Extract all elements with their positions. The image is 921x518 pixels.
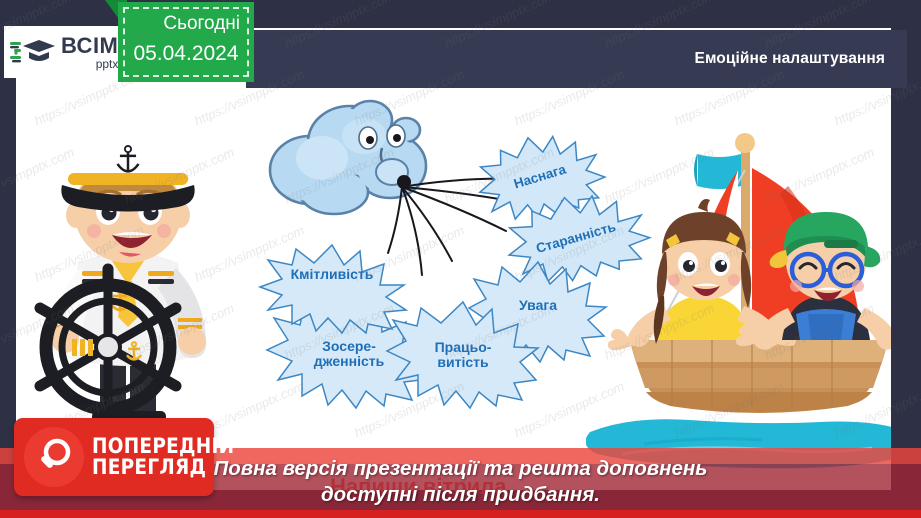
banner-bottom-stripe bbox=[0, 510, 921, 518]
date-badge-label: Сьогодні bbox=[118, 13, 254, 35]
star-label: Зосере- дженність bbox=[314, 339, 384, 370]
magnifier-icon bbox=[24, 427, 84, 487]
brand-logo[interactable]: ВСІМ pptx bbox=[4, 26, 122, 78]
star-label: Кмітливість bbox=[291, 267, 374, 282]
logo-subtitle: pptx bbox=[61, 58, 118, 70]
date-badge: Сьогодні 05.04.2024 bbox=[118, 2, 254, 82]
preview-button[interactable]: ПОПЕРЕДНІЙ ПЕРЕГЛЯД bbox=[14, 418, 214, 496]
star-label: Працьо- витість bbox=[435, 340, 492, 371]
slide-title-bar: Емоційне налаштування bbox=[246, 30, 907, 88]
sailboat-with-two-children-illustration bbox=[602, 128, 891, 428]
star-callout-pratsovytist: Працьо- витість bbox=[384, 300, 542, 410]
preview-button-line2: ПЕРЕГЛЯД bbox=[92, 457, 234, 478]
preview-button-line1: ПОПЕРЕДНІЙ bbox=[92, 436, 234, 457]
page-title: Емоційне налаштування bbox=[695, 50, 886, 68]
sailor-boy-with-ships-wheel-illustration bbox=[20, 103, 235, 423]
graduation-cap-icon bbox=[10, 37, 56, 67]
presentation-slide: Наснага Старанність Кмітливість Увага Зо bbox=[0, 0, 921, 518]
logo-title: ВСІМ bbox=[61, 35, 118, 57]
date-badge-value: 05.04.2024 bbox=[118, 42, 254, 66]
